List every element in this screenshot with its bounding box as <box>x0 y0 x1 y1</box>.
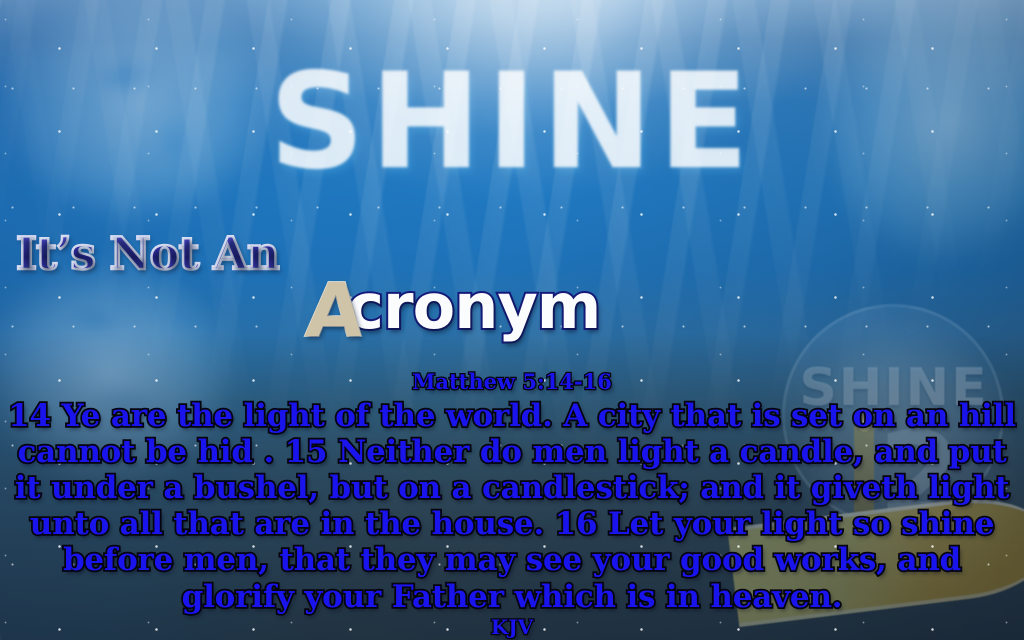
kicker-its-not-an: It’s Not An <box>16 231 279 276</box>
scripture-version: KJV <box>0 617 1024 637</box>
scripture-text: 14 Ye are the light of the world. A city… <box>0 398 1024 615</box>
poster-canvas: 2 SHINE SHINE It’s Not An A cronym Matth… <box>0 0 1024 640</box>
acronym-initial-letter: A <box>304 280 360 344</box>
acronym-remaining-letters: cronym <box>347 276 600 338</box>
headline-shine: SHINE <box>0 56 1024 188</box>
scripture-reference: Matthew 5:14-16 <box>0 371 1024 392</box>
acronym-wordmark: A cronym <box>306 274 600 338</box>
scripture-block: Matthew 5:14-16 14 Ye are the light of t… <box>0 371 1024 637</box>
